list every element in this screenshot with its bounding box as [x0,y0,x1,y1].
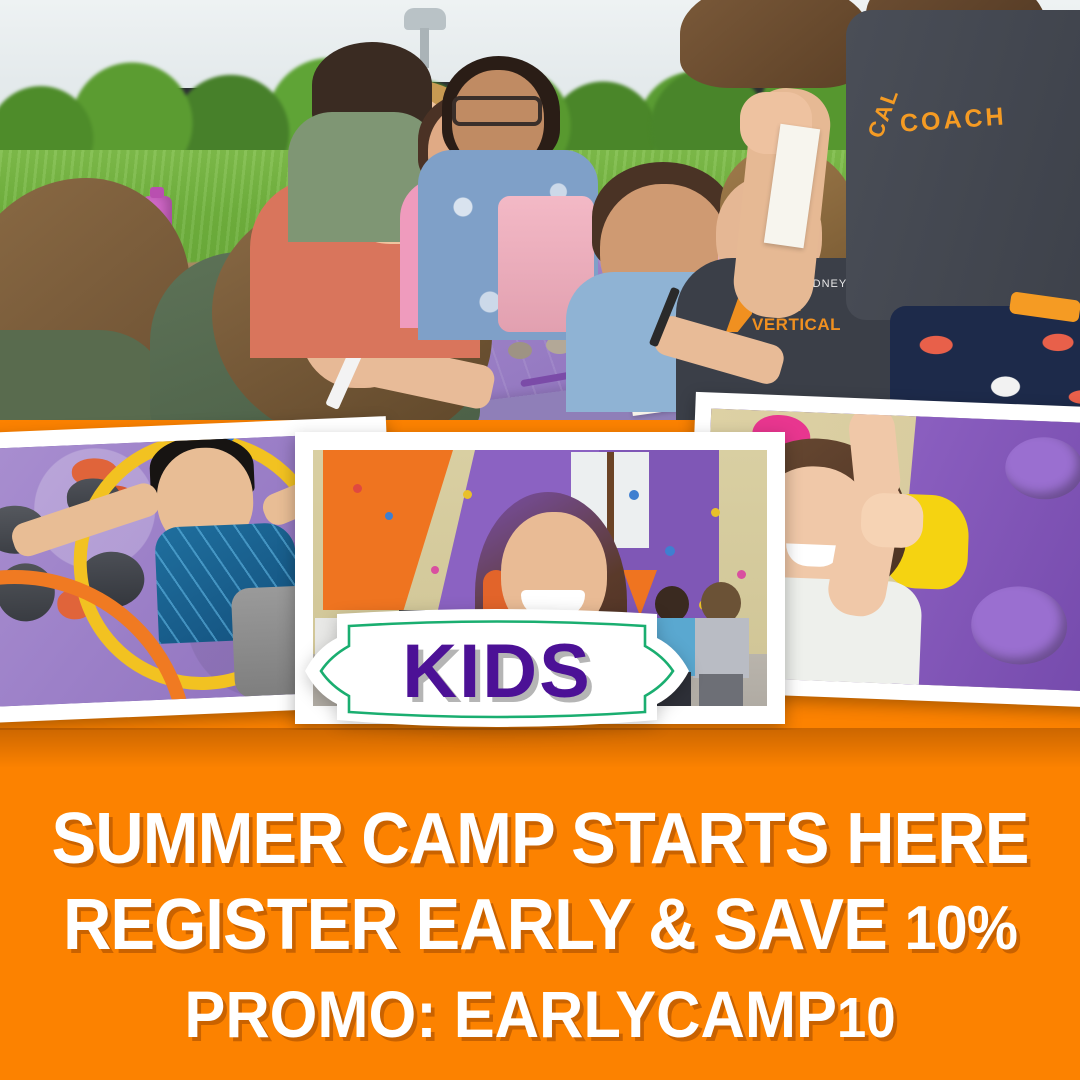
painted-rock [508,342,532,359]
headline-line-1: SUMMER CAMP STARTS HERE [38,796,1042,882]
eyeglasses [452,96,542,126]
coach-shirt [846,10,1080,320]
promo-copy: SUMMER CAMP STARTS HERE REGISTER EARLY &… [0,730,1080,1061]
promo-code-number: 10 [837,987,896,1050]
wall-hold [629,490,639,500]
wall-hold [353,484,362,493]
wall-hold [737,570,746,579]
headline-line-2-text: REGISTER EARLY & SAVE [63,885,905,965]
wall-hold [431,566,439,574]
headline-line-3: PROMO: EARLYCAMP10 [38,972,1042,1061]
badge-label: KIDS [297,608,697,734]
wall-hold [711,508,720,517]
kids-badge: KIDS [297,608,697,734]
promo-poster: TEAMVERTICAL SYDNEY COACH CAL [0,0,1080,1080]
discount-percent: 10% [905,894,1017,963]
promo-code-label: PROMO: EARLYCAMP [184,977,836,1051]
headline-line-2: REGISTER EARLY & SAVE 10% [38,882,1042,972]
wall-hold [385,512,393,520]
girl-hand [860,492,924,548]
wall-hold [665,546,675,556]
hero-photo: TEAMVERTICAL SYDNEY COACH CAL [0,0,1080,420]
wall-hold [463,490,472,499]
